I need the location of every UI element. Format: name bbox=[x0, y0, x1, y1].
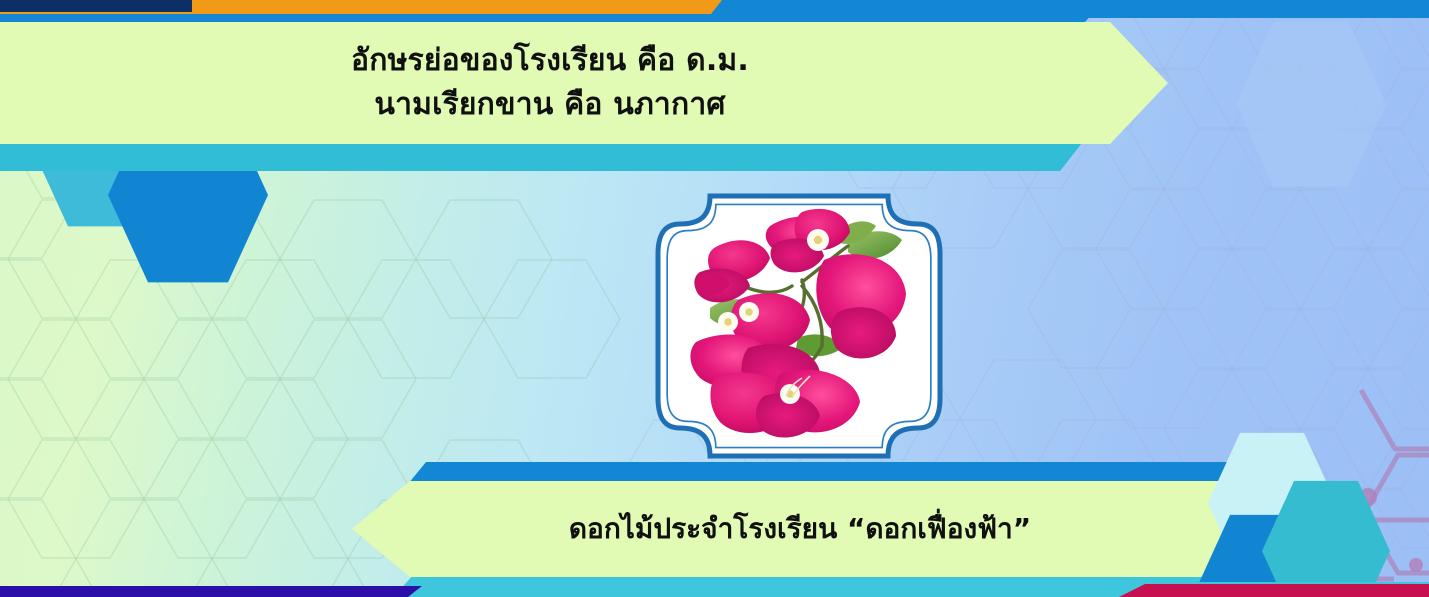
decorative-hexagon-faint-top-right bbox=[1236, 18, 1386, 190]
title-banner-cyan-stripe bbox=[0, 143, 1082, 171]
flower-photo-frame bbox=[652, 190, 946, 462]
slide-caption: ดอกไม้ประจำโรงเรียน “ดอกเฟื่องฟ้า” bbox=[380, 483, 1220, 575]
title-line-1: อักษรย่อของโรงเรียน คือ ด.ม. bbox=[351, 42, 749, 80]
bottom-accent-bar-purple bbox=[0, 586, 422, 597]
caption-banner-blue-stripe bbox=[408, 462, 1230, 484]
title-line-2: นามเรียกขาน คือ นภากาศ bbox=[374, 86, 725, 124]
slide-canvas: อักษรย่อของโรงเรียน คือ ด.ม. นามเรียกขาน… bbox=[0, 0, 1429, 597]
top-accent-bar-navy bbox=[0, 0, 192, 12]
bottom-accent-bar-crimson bbox=[1119, 584, 1429, 597]
slide-title: อักษรย่อของโรงเรียน คือ ด.ม. นามเรียกขาน… bbox=[0, 24, 1100, 142]
flower-photo bbox=[652, 190, 946, 462]
